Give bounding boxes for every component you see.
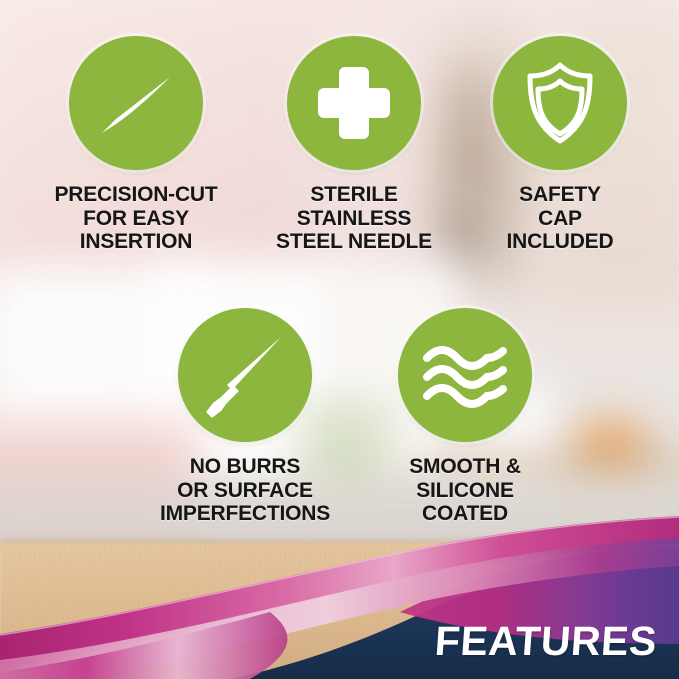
feature-icon-circle	[69, 36, 203, 170]
feature-icon-circle	[178, 308, 312, 442]
feature-safety-cap[interactable]: SAFETY CAP INCLUDED	[460, 36, 660, 254]
feature-icon-circle	[287, 36, 421, 170]
feature-silicone-coated[interactable]: SMOOTH & SILICONE COATED	[365, 308, 565, 526]
feature-icon-circle	[398, 308, 532, 442]
banner-title: FEATURES	[433, 618, 658, 665]
feature-caption: PRECISION-CUT FOR EASY INSERTION	[36, 183, 236, 254]
feature-icon-circle	[493, 36, 627, 170]
feature-precision-cut[interactable]: PRECISION-CUT FOR EASY INSERTION	[36, 36, 236, 254]
waves-icon	[415, 325, 515, 425]
feature-caption: SAFETY CAP INCLUDED	[460, 183, 660, 254]
features-banner: FEATURES	[0, 504, 679, 679]
medical-cross-icon	[308, 57, 400, 149]
feature-caption: STERILE STAINLESS STEEL NEEDLE	[254, 183, 454, 254]
feature-sterile-needle[interactable]: STERILE STAINLESS STEEL NEEDLE	[254, 36, 454, 254]
beveled-needle-tip-icon	[86, 53, 186, 153]
shield-icon	[513, 56, 607, 150]
product-features-infographic: PRECISION-CUT FOR EASY INSERTION STERILE…	[0, 0, 679, 679]
needle-with-hub-icon	[193, 323, 297, 427]
feature-no-burrs[interactable]: NO BURRS OR SURFACE IMPERFECTIONS	[145, 308, 345, 526]
